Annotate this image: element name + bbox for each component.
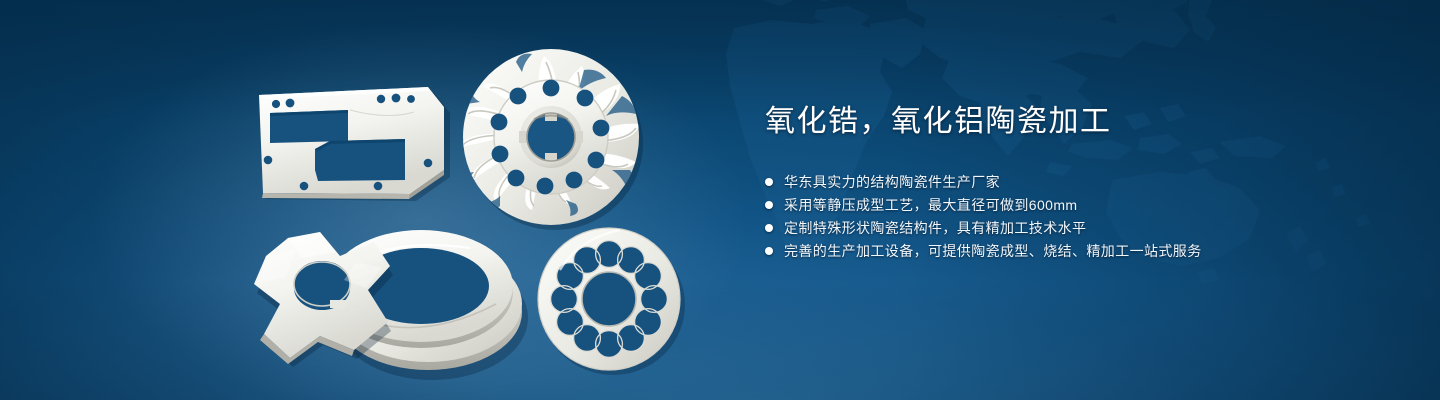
hero-banner: 氧化锆，氧化铝陶瓷加工 华东具实力的结构陶瓷件生产厂家 采用等静压成型工艺，最大… [0, 0, 1440, 400]
bullet-dot-icon [765, 178, 773, 186]
bullet-dot-icon [765, 224, 773, 232]
product-photo-group [0, 0, 760, 400]
ceramic-machined-plate [259, 87, 450, 201]
feature-text: 华东具实力的结构陶瓷件生产厂家 [784, 172, 1000, 192]
feature-text: 采用等静压成型工艺，最大直径可做到600mm [784, 195, 1077, 215]
feature-text: 定制特殊形状陶瓷结构件，具有精加工技术水平 [784, 218, 1086, 238]
bullet-dot-icon [765, 201, 773, 209]
feature-item: 完善的生产加工设备，可提供陶瓷成型、烧结、精加工一站式服务 [765, 240, 1385, 262]
feature-item: 定制特殊形状陶瓷结构件，具有精加工技术水平 [765, 217, 1385, 239]
banner-headline: 氧化锆，氧化铝陶瓷加工 [765, 104, 1385, 141]
banner-copy: 氧化锆，氧化铝陶瓷加工 华东具实力的结构陶瓷件生产厂家 采用等静压成型工艺，最大… [765, 104, 1385, 263]
bullet-dot-icon [765, 247, 773, 255]
feature-list: 华东具实力的结构陶瓷件生产厂家 采用等静压成型工艺，最大直径可做到600mm 定… [765, 171, 1385, 262]
feature-text: 完善的生产加工设备，可提供陶瓷成型、烧结、精加工一站式服务 [784, 241, 1202, 261]
feature-item: 采用等静压成型工艺，最大直径可做到600mm [765, 194, 1385, 216]
feature-item: 华东具实力的结构陶瓷件生产厂家 [765, 171, 1385, 193]
